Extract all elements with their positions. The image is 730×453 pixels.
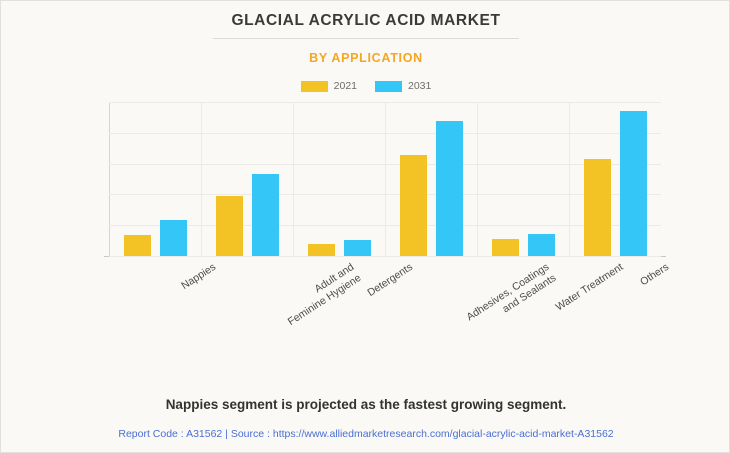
bar-group bbox=[385, 102, 477, 256]
legend-item-2031[interactable]: 2031 bbox=[375, 80, 431, 92]
bar-2031[interactable] bbox=[528, 234, 555, 256]
x-tick-label: Water Treatment bbox=[554, 261, 626, 314]
x-tick-label: Nappies bbox=[179, 261, 218, 293]
chart-legend: 2021 2031 bbox=[1, 80, 730, 92]
x-tick-label: Adhesives, Coatings and Sealants bbox=[464, 261, 559, 335]
legend-swatch-2021-icon bbox=[301, 81, 328, 92]
legend-item-2021[interactable]: 2021 bbox=[301, 80, 357, 92]
bar-group bbox=[477, 102, 569, 256]
bar-2021[interactable] bbox=[584, 159, 611, 256]
legend-label-2021: 2021 bbox=[334, 80, 357, 92]
chart-subtitle: BY APPLICATION bbox=[1, 51, 730, 65]
bar-2021[interactable] bbox=[400, 155, 427, 256]
bar-2021[interactable] bbox=[492, 239, 519, 256]
bar-2021[interactable] bbox=[216, 196, 243, 256]
chart-caption: Nappies segment is projected as the fast… bbox=[1, 397, 730, 412]
chart-figure: GLACIAL ACRYLIC ACID MARKET BY APPLICATI… bbox=[0, 0, 730, 453]
bar-2031[interactable] bbox=[436, 121, 463, 256]
bar-2021[interactable] bbox=[308, 244, 335, 256]
x-tick-label: Adult and Feminine Hygiene bbox=[279, 261, 364, 329]
bar-2021[interactable] bbox=[124, 235, 151, 256]
source-line: Report Code : A31562 | Source : https://… bbox=[1, 428, 730, 440]
gridline bbox=[109, 256, 661, 257]
title-divider bbox=[213, 38, 519, 39]
bar-group bbox=[201, 102, 293, 256]
legend-label-2031: 2031 bbox=[408, 80, 431, 92]
bar-2031[interactable] bbox=[252, 174, 279, 256]
plot-area bbox=[109, 102, 661, 256]
bar-2031[interactable] bbox=[160, 220, 187, 256]
bar-group bbox=[293, 102, 385, 256]
x-tick-label: Others bbox=[638, 261, 672, 289]
chart-title: GLACIAL ACRYLIC ACID MARKET bbox=[1, 12, 730, 30]
bar-group bbox=[109, 102, 201, 256]
bar-group bbox=[569, 102, 661, 256]
bar-2031[interactable] bbox=[344, 240, 371, 256]
legend-swatch-2031-icon bbox=[375, 81, 402, 92]
x-tick-label: Detergents bbox=[365, 261, 415, 300]
bar-2031[interactable] bbox=[620, 111, 647, 256]
